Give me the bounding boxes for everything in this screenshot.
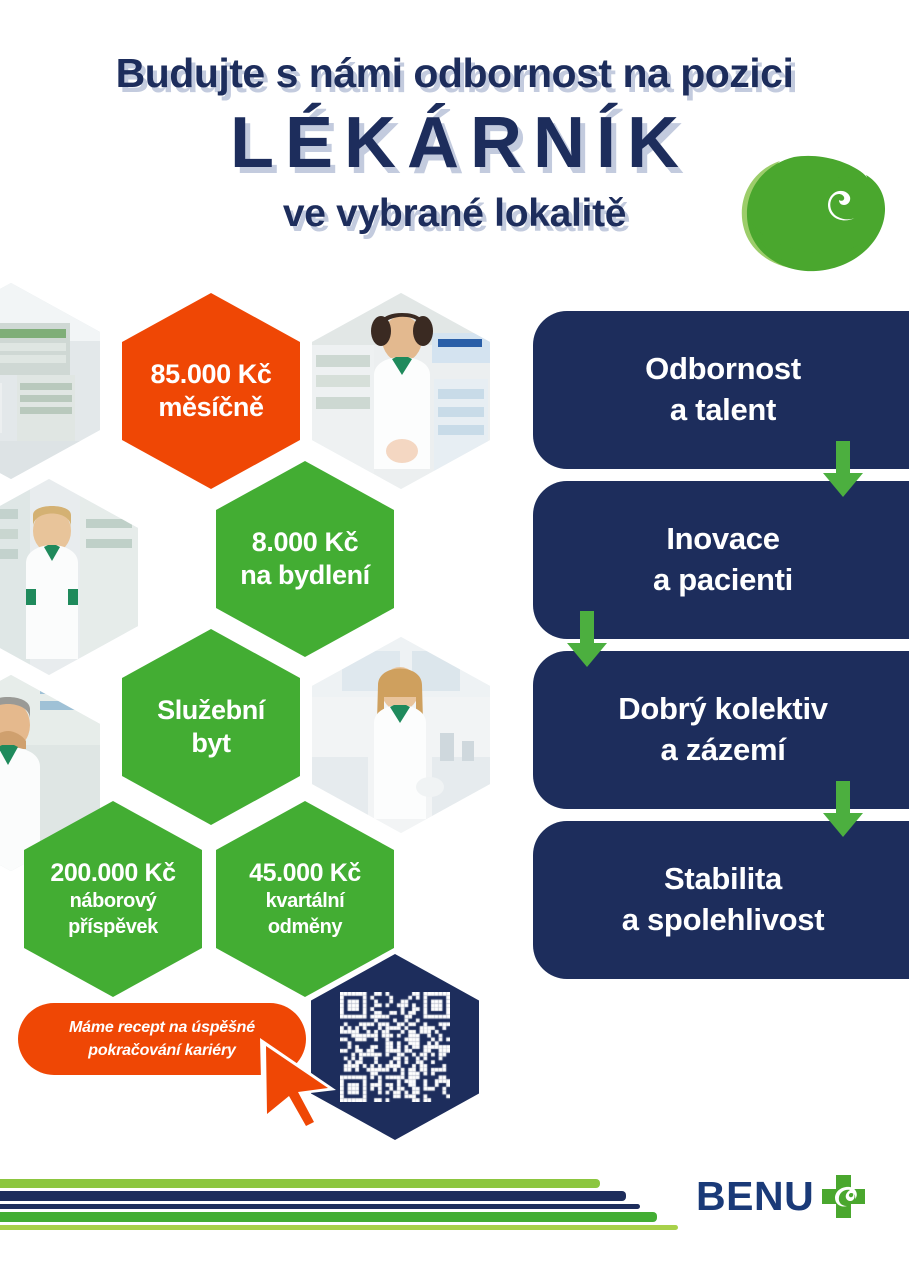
benefit-sub: náborový — [70, 888, 157, 914]
benefit-hex-company-flat: Služební byt — [122, 629, 300, 825]
benu-bird-emblem-icon — [722, 143, 902, 278]
benefit-amount: 8.000 Kč — [252, 526, 358, 559]
pharmacist-blonde-photo — [0, 479, 138, 675]
benefit-sub-2: odměny — [268, 914, 342, 940]
arrow-down-icon — [821, 781, 865, 839]
benefit-sub: měsíčně — [158, 391, 263, 424]
footer-stripe — [0, 1204, 640, 1209]
value-panel-expertise: Odbornost a talent — [533, 311, 909, 469]
benu-wordmark: BENU — [696, 1176, 814, 1217]
benefit-amount: 85.000 Kč — [151, 358, 272, 391]
value-panel-list: Odbornost a talent Inovace a pacienti Do… — [533, 311, 909, 991]
footer-stripe — [0, 1179, 600, 1188]
value-line-1: Inovace — [666, 519, 779, 560]
slogan-line-1: Máme recept na úspěšné — [69, 1016, 255, 1039]
recruitment-poster: Budujte s námi odbornost na pozici LÉKÁR… — [0, 0, 909, 1275]
footer-stripes — [0, 1179, 700, 1233]
arrow-down-icon — [565, 611, 609, 669]
photo-hex-pharmacy-interior — [0, 283, 100, 479]
value-panel-team: Dobrý kolektiv a zázemí — [533, 651, 909, 809]
benefit-hex-salary: 85.000 Kč měsíčně — [122, 293, 300, 489]
benefit-hex-quarterly-bonus: 45.000 Kč kvartální odměny — [216, 801, 394, 997]
benefit-amount: 200.000 Kč — [50, 858, 175, 889]
benefit-sub: na bydlení — [240, 559, 370, 592]
footer-stripe — [0, 1212, 657, 1222]
value-line-2: a pacienti — [653, 560, 793, 601]
photo-hex-pharmacist-lab — [312, 637, 490, 833]
value-panel-stability: Stabilita a spolehlivost — [533, 821, 909, 979]
pharmacy-interior-photo — [0, 283, 100, 479]
value-line-1: Stabilita — [664, 859, 782, 900]
value-line-2: a zázemí — [660, 730, 785, 771]
arrow-down-icon — [821, 441, 865, 499]
benu-cross-icon — [820, 1173, 867, 1220]
footer-stripe — [0, 1191, 626, 1201]
headline-line-1: Budujte s námi odbornost na pozici — [0, 52, 909, 95]
benefit-amount: 45.000 Kč — [249, 858, 361, 889]
photo-hex-pharmacist-blonde — [0, 479, 138, 675]
pharmacist-lab-photo — [312, 637, 490, 833]
value-line-2: a spolehlivost — [622, 900, 825, 941]
benefit-sub: kvartální — [266, 888, 345, 914]
footer-stripe — [0, 1225, 678, 1230]
benefit-hex-grid: 85.000 Kč měsíčně 8.000 Kč na bydlení Sl… — [0, 283, 520, 983]
value-line-2: a talent — [670, 390, 776, 431]
value-panel-innovation: Inovace a pacienti — [533, 481, 909, 639]
benefit-hex-housing: 8.000 Kč na bydlení — [216, 461, 394, 657]
benu-logo: BENU — [696, 1173, 867, 1220]
benefit-sub: byt — [191, 727, 230, 760]
slogan-line-2: pokračování kariéry — [88, 1039, 235, 1062]
benefit-amount: Služební — [157, 694, 265, 727]
pharmacist-curly-photo — [312, 293, 490, 489]
benefit-sub-2: příspěvek — [68, 914, 158, 940]
cursor-pointer-icon — [252, 1034, 344, 1134]
value-line-1: Dobrý kolektiv — [618, 689, 827, 730]
photo-hex-pharmacist-curly — [312, 293, 490, 489]
value-line-1: Odbornost — [645, 349, 801, 390]
qr-code[interactable] — [340, 992, 450, 1102]
